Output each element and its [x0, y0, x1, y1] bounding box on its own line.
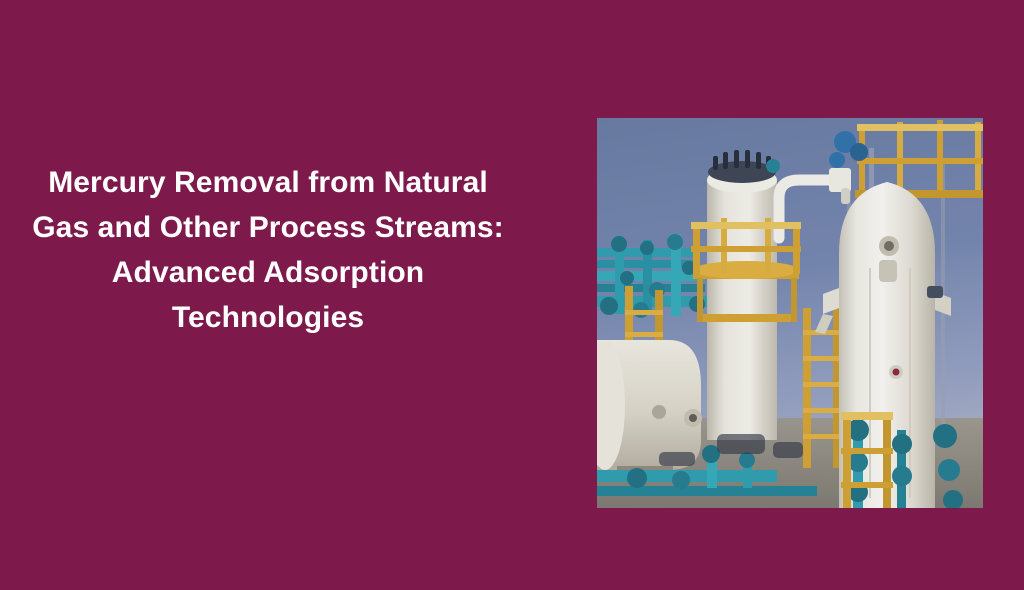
plant-photograph [597, 118, 983, 508]
plant-photograph-artwork [597, 118, 983, 508]
presentation-slide: Mercury Removal from Natural Gas and Oth… [0, 0, 1024, 590]
title-line-1: Mercury Removal from Natural [8, 160, 528, 205]
photo-haze [597, 118, 983, 508]
title-line-3: Advanced Adsorption [8, 250, 528, 295]
slide-title: Mercury Removal from Natural Gas and Oth… [8, 160, 528, 340]
title-line-2: Gas and Other Process Streams: [8, 205, 528, 250]
title-line-4: Technologies [8, 295, 528, 340]
